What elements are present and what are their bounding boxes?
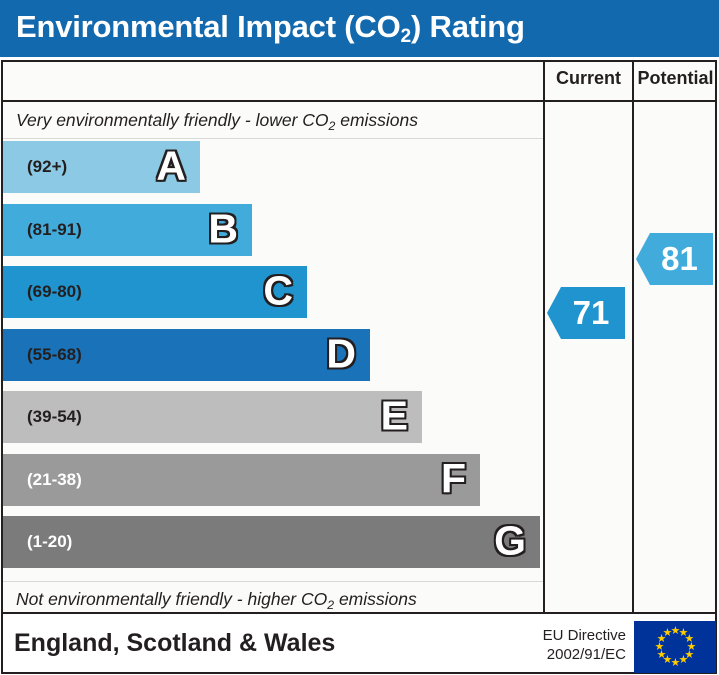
rating-bar-letter-b: B [208,208,238,249]
rating-marker-potential: 81 [636,233,713,285]
caption-top: Very environmentally friendly - lower CO… [16,110,418,131]
rating-bar-range-d: (55-68) [27,345,82,365]
title-subscript: 2 [401,26,411,47]
column-divider-current [543,60,545,614]
rating-bar-letter-c: C [263,271,293,312]
rating-bar-b: (81-91)B [3,204,252,256]
eu-flag-star: ★ [663,629,672,638]
caption-bottom-subscript: 2 [327,598,334,612]
rating-bar-e: (39-54)E [3,391,422,443]
rating-bar-range-f: (21-38) [27,470,82,490]
footer-region-label: England, Scotland & Wales [14,629,335,658]
title-bar: Environmental Impact (CO2) Rating [0,0,719,57]
caption-top-separator [3,138,543,139]
rating-bar-range-b: (81-91) [27,220,82,240]
column-divider-potential [632,60,634,614]
rating-bar-range-g: (1-20) [27,532,72,552]
rating-bars: (92+)A(81-91)B(69-80)C(55-68)D(39-54)E(2… [3,141,543,581]
caption-bottom: Not environmentally friendly - higher CO… [16,589,417,610]
rating-marker-current: 71 [547,287,625,339]
rating-bar-range-c: (69-80) [27,282,82,302]
eu-directive-line1: EU Directive [521,626,626,645]
caption-top-subscript: 2 [329,119,336,133]
rating-bar-letter-e: E [381,396,408,437]
column-header-potential: Potential [634,68,717,89]
rating-bar-letter-f: F [441,458,466,499]
rating-bar-letter-d: D [326,333,356,374]
epc-environmental-impact-certificate: Environmental Impact (CO2) Rating Curren… [0,0,719,675]
eu-flag-icon: ★★★★★★★★★★★★ [634,621,716,673]
rating-bar-c: (69-80)C [3,266,307,318]
caption-bottom-separator [3,581,543,582]
rating-bar-range-e: (39-54) [27,407,82,427]
page-title: Environmental Impact (CO2) Rating [16,9,525,45]
rating-bar-a: (92+)A [3,141,200,193]
rating-bar-g: (1-20)G [3,516,540,568]
rating-bar-letter-g: G [494,521,526,562]
rating-bar-f: (21-38)F [3,454,480,506]
eu-directive-line2: 2002/91/EC [521,645,626,664]
header-row-separator [1,100,717,102]
eu-directive-label: EU Directive 2002/91/EC [521,626,626,664]
rating-bar-letter-a: A [156,146,186,187]
column-header-current: Current [545,68,632,89]
rating-bar-d: (55-68)D [3,329,370,381]
rating-bar-range-a: (92+) [27,157,67,177]
